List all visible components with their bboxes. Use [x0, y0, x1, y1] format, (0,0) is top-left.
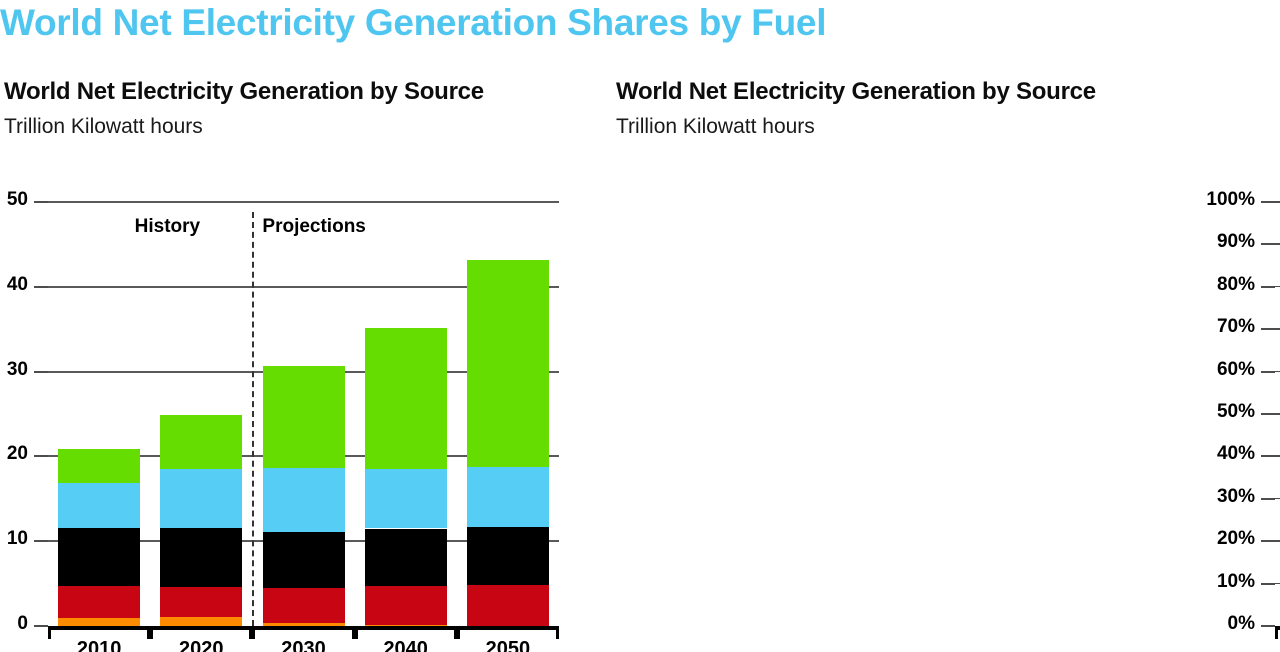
bar-2030[interactable]	[263, 202, 345, 626]
y-tick-mark	[1261, 371, 1275, 373]
x-axis-label-2030: 2030	[252, 638, 354, 652]
gridline	[1275, 371, 1280, 373]
y-axis-tick-label: 90%	[1197, 231, 1255, 253]
bar-segment-coal-2010[interactable]	[58, 528, 140, 587]
y-tick-mark	[1261, 455, 1275, 457]
y-axis-tick-label: 0%	[1197, 613, 1255, 635]
bar-segment-renewables-2050[interactable]	[467, 260, 549, 468]
y-tick-mark	[1261, 413, 1275, 415]
bar-segment-natural-gas-2020[interactable]	[160, 469, 242, 528]
y-tick-mark	[34, 625, 48, 627]
bar-segment-nuclear-2020[interactable]	[160, 587, 242, 617]
gridline	[1275, 583, 1280, 585]
bar-2040[interactable]	[365, 202, 447, 626]
bar-segment-natural-gas-2030[interactable]	[263, 468, 345, 532]
x-axis-label-2020: 2020	[150, 638, 252, 652]
history-projection-divider	[252, 212, 254, 626]
bar-segment-nuclear-2050[interactable]	[467, 585, 549, 626]
x-axis-label-2010: 2010	[1275, 638, 1280, 652]
bar-segment-natural-gas-2050[interactable]	[467, 467, 549, 526]
panel-subtitle-left: Trillion Kilowatt hours	[4, 115, 203, 139]
gridline	[1275, 498, 1280, 500]
chart-page: World Net Electricity Generation Shares …	[0, 0, 1280, 652]
y-tick-mark	[34, 201, 48, 203]
panel-title-left: World Net Electricity Generation by Sour…	[4, 78, 484, 106]
y-tick-mark	[34, 371, 48, 373]
bar-segment-nuclear-2010[interactable]	[58, 586, 140, 617]
bar-segment-coal-2050[interactable]	[467, 527, 549, 586]
y-axis-tick-label: 10	[0, 528, 28, 550]
bar-segment-renewables-2010[interactable]	[58, 449, 140, 483]
y-tick-mark	[1261, 583, 1275, 585]
bar-2020[interactable]	[160, 202, 242, 626]
y-axis-tick-label: 80%	[1197, 274, 1255, 296]
gridline	[1275, 413, 1280, 415]
bar-segment-nuclear-2040[interactable]	[365, 586, 447, 625]
plot-area-left: 01020304050HistoryProjections20102020203…	[48, 202, 559, 626]
bar-segment-natural-gas-2040[interactable]	[365, 469, 447, 528]
y-axis-tick-label: 30	[0, 359, 28, 381]
y-axis-tick-label: 0	[0, 613, 28, 635]
y-tick-mark	[1261, 286, 1275, 288]
y-tick-mark	[1261, 201, 1275, 203]
y-tick-mark	[34, 455, 48, 457]
bar-segment-coal-2040[interactable]	[365, 529, 447, 587]
gridline	[1275, 201, 1280, 203]
y-axis-tick-label: 100%	[1197, 189, 1255, 211]
y-tick-mark	[1261, 243, 1275, 245]
panel-subtitle-right: Trillion Kilowatt hours	[616, 115, 815, 139]
gridline	[1275, 455, 1280, 457]
panel-title-right: World Net Electricity Generation by Sour…	[616, 78, 1096, 106]
y-tick-mark	[34, 286, 48, 288]
y-tick-mark	[1261, 625, 1275, 627]
panel-share-generation: World Net Electricity Generation by Sour…	[612, 0, 1280, 652]
y-axis-tick-label: 50	[0, 189, 28, 211]
bar-segment-liquid-fuels-2020[interactable]	[160, 617, 242, 626]
bar-segment-coal-2020[interactable]	[160, 528, 242, 587]
y-axis-tick-label: 40%	[1197, 443, 1255, 465]
plot-area-right: 0%10%20%30%40%50%60%70%80%90%100%History…	[1275, 202, 1280, 626]
bar-segment-coal-2030[interactable]	[263, 532, 345, 588]
y-axis-tick-label: 20	[0, 443, 28, 465]
bar-segment-natural-gas-2010[interactable]	[58, 483, 140, 528]
x-axis-label-2050: 2050	[457, 638, 559, 652]
bar-segment-renewables-2020[interactable]	[160, 415, 242, 469]
y-axis-tick-label: 50%	[1197, 401, 1255, 423]
y-tick-mark	[1261, 498, 1275, 500]
gridline	[1275, 328, 1280, 330]
bar-segment-nuclear-2030[interactable]	[263, 588, 345, 624]
y-tick-mark	[1261, 328, 1275, 330]
y-axis-tick-label: 30%	[1197, 486, 1255, 508]
bar-segment-liquid-fuels-2010[interactable]	[58, 618, 140, 626]
x-axis-label-2040: 2040	[355, 638, 457, 652]
y-axis-tick-label: 60%	[1197, 359, 1255, 381]
bar-2050[interactable]	[467, 202, 549, 626]
y-axis-tick-label: 10%	[1197, 571, 1255, 593]
y-axis-tick-label: 40	[0, 274, 28, 296]
x-axis-label-2010: 2010	[48, 638, 150, 652]
bar-segment-renewables-2030[interactable]	[263, 366, 345, 469]
gridline	[1275, 243, 1280, 245]
y-axis-tick-label: 70%	[1197, 316, 1255, 338]
y-axis-tick-label: 20%	[1197, 528, 1255, 550]
projections-label: Projections	[262, 216, 422, 238]
gridline	[1275, 540, 1280, 542]
bar-2010[interactable]	[58, 202, 140, 626]
y-tick-mark	[34, 540, 48, 542]
y-tick-mark	[1261, 540, 1275, 542]
gridline	[1275, 286, 1280, 288]
history-label: History	[92, 216, 242, 238]
bar-segment-renewables-2040[interactable]	[365, 328, 447, 470]
panel-absolute-generation: World Net Electricity Generation by Sour…	[0, 0, 600, 652]
